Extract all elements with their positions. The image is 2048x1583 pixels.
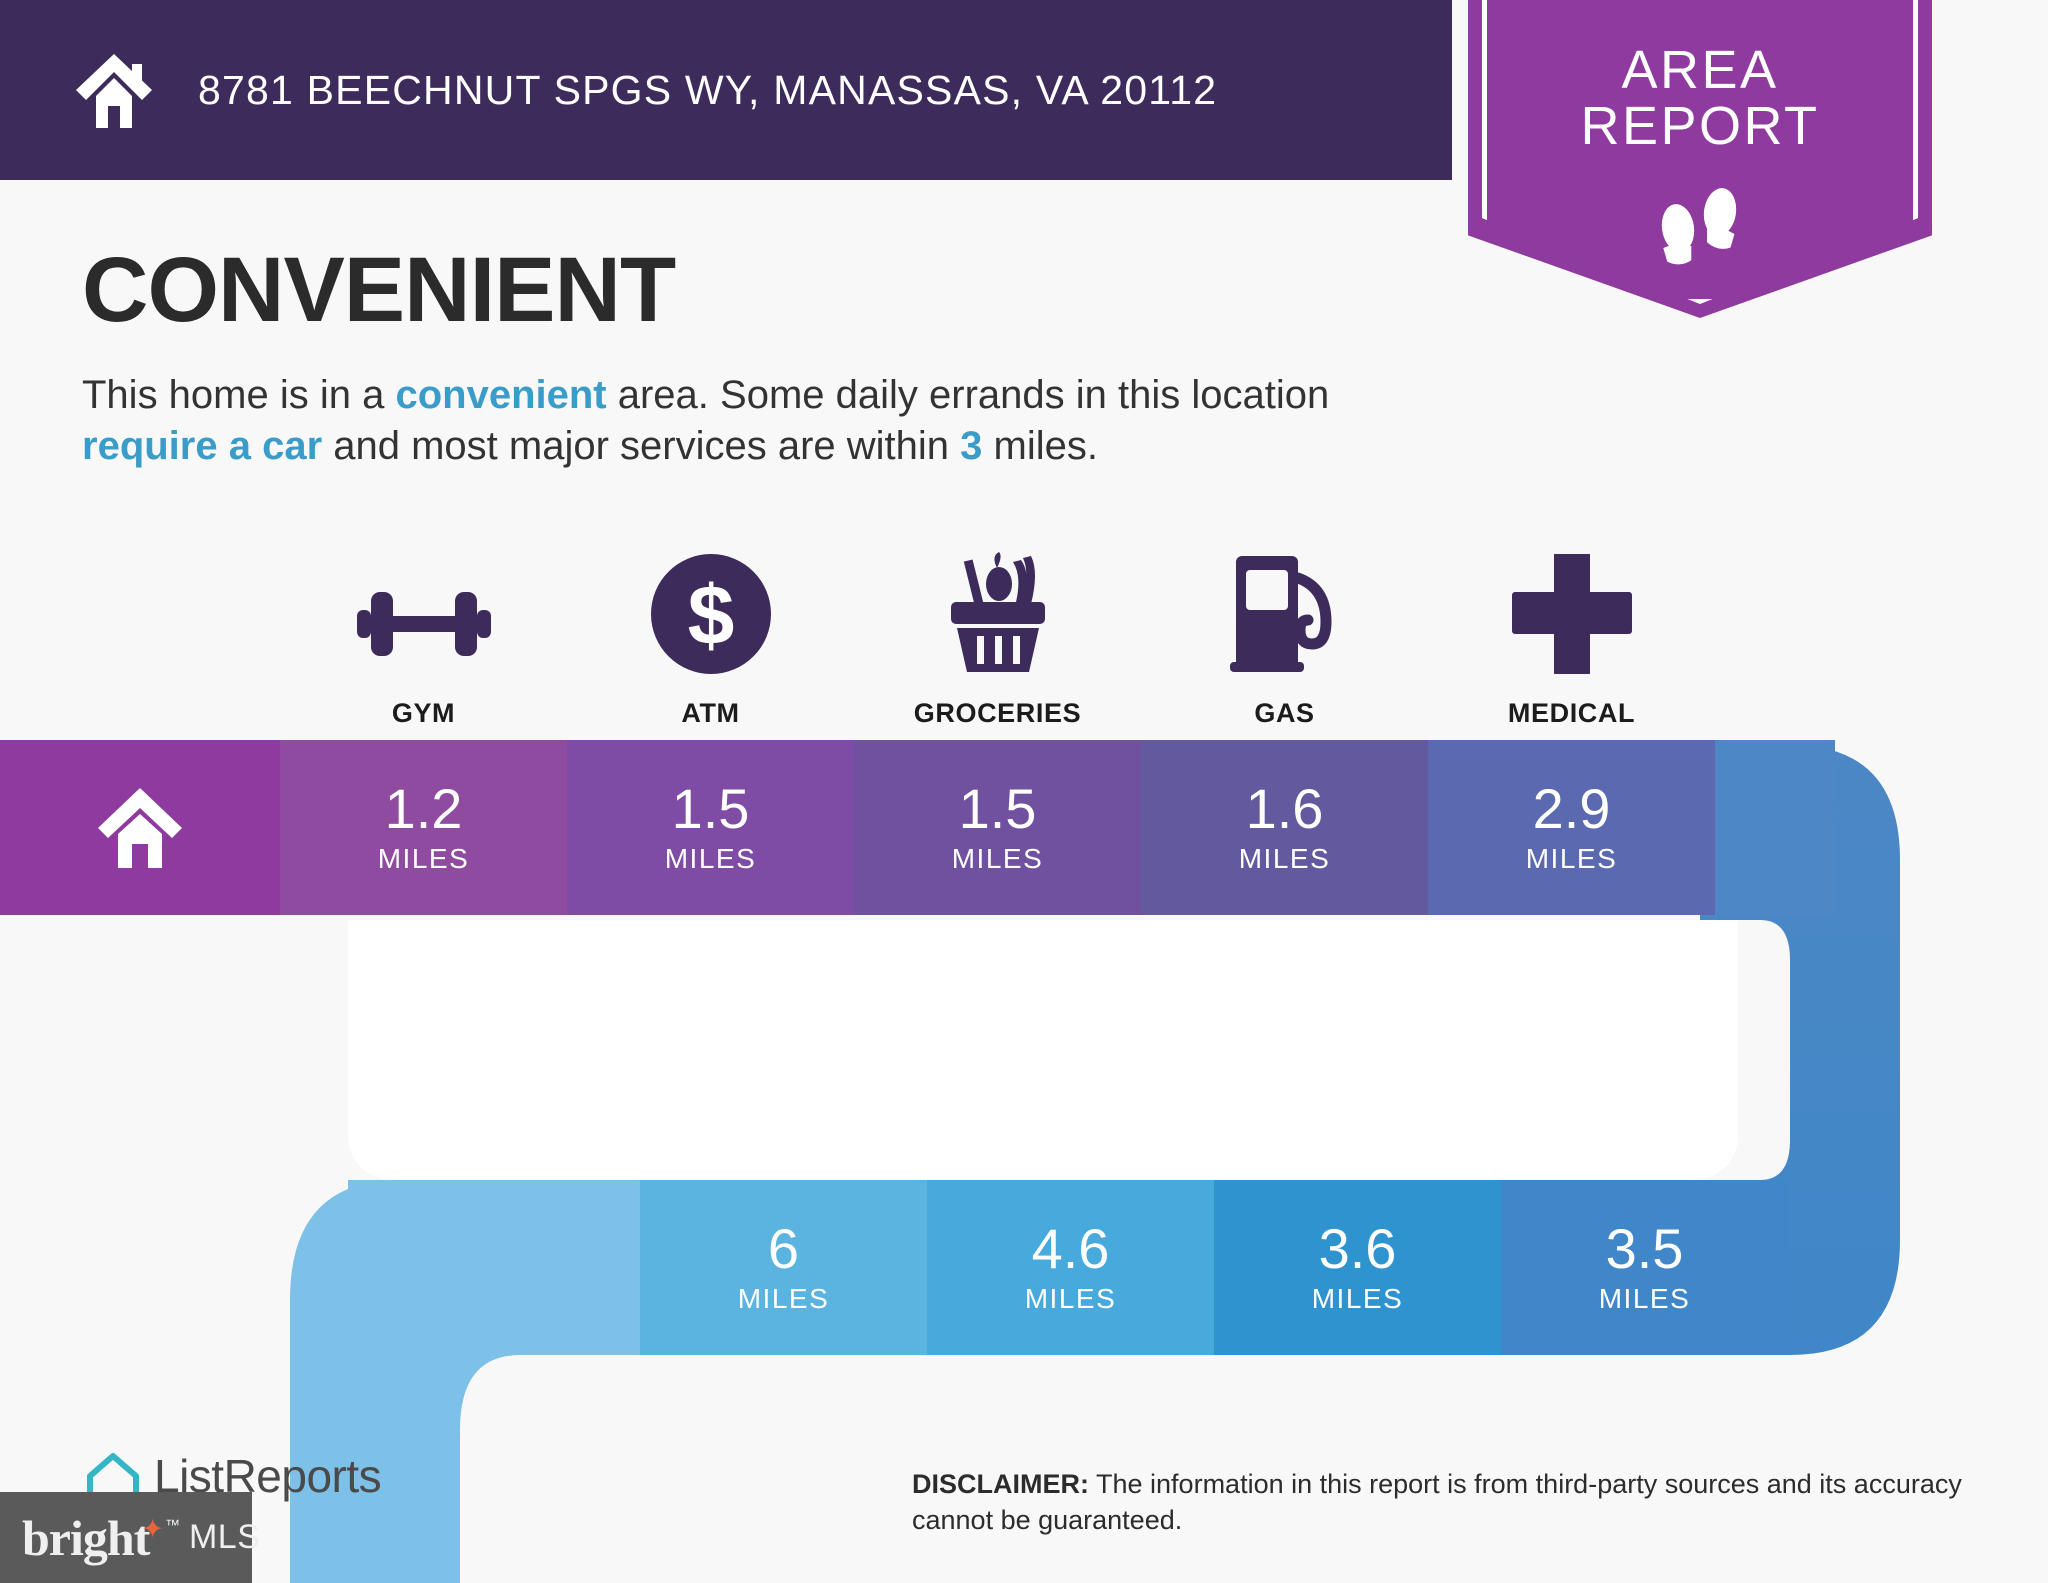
brightmls-wordmark: bright [22,1509,149,1567]
amenity-label: GROCERIES [914,698,1081,729]
brightmls-logo: bright ✦ ™ MLS [0,1492,252,1583]
summary-part2: area. Some daily errands in this locatio… [607,373,1330,417]
distance-unit: MILES [665,843,757,875]
distance-value: 3.5 [1606,1221,1684,1277]
amenity-medical: MEDICAL [1428,548,1715,729]
disclaimer-label: DISCLAIMER: [912,1469,1089,1499]
distance-segment-cleaners: 3.6 MILES [1214,1180,1501,1355]
distance-segment-atm: 1.5 MILES [567,740,854,915]
distance-segment-movie-theater: 6 MILES [640,1180,927,1355]
summary-part3: and most major services are within [322,424,960,468]
disclaimer: DISCLAIMER: The information in this repo… [912,1466,1972,1539]
distance-segment-lead [348,1180,640,1355]
area-report-badge: AREA REPORT [1468,0,1932,318]
distance-unit: MILES [1025,1283,1117,1315]
amenity-atm: $ ATM [567,548,854,729]
distance-segment-groceries: 1.5 MILES [854,740,1141,915]
distance-segment-coffee: 4.6 MILES [927,1180,1214,1355]
grocery-basket-icon [933,548,1063,676]
svg-text:$: $ [687,568,734,662]
distance-value: 3.6 [1319,1221,1397,1277]
medical-cross-icon [1510,548,1634,676]
amenity-gym: GYM [280,548,567,729]
home-marker-segment [0,740,280,915]
summary-text: This home is in a convenient area. Some … [82,370,1412,472]
distance-value: 1.5 [672,781,750,837]
distance-bar-row-1: 1.2 MILES 1.5 MILES 1.5 MILES 1.6 MILES … [0,740,1835,915]
summary-part1: This home is in a [82,373,395,417]
home-icon [72,48,156,132]
amenity-label: ATM [681,698,739,729]
amenity-groceries: GROCERIES [854,548,1141,729]
brightmls-star-icon: ✦ [141,1514,164,1545]
distance-segment-gas: 1.6 MILES [1141,740,1428,915]
summary-part4: miles. [982,424,1098,468]
summary-highlight-convenient: convenient [395,373,606,417]
distance-value: 1.2 [385,781,463,837]
distance-value: 6 [768,1221,799,1277]
distance-value: 1.6 [1246,781,1324,837]
distance-unit: MILES [1239,843,1331,875]
property-address: 8781 BEECHNUT SPGS WY, MANASSAS, VA 2011… [198,67,1217,114]
distance-unit: MILES [1526,843,1618,875]
distance-value: 4.6 [1032,1221,1110,1277]
summary-highlight-car: require a car [82,424,322,468]
distance-unit: MILES [1599,1283,1691,1315]
amenity-gas: GAS [1141,548,1428,729]
badge-title-line2: REPORT [1580,98,1819,154]
distance-bar-row-2: 6 MILES 4.6 MILES 3.6 MILES 3.5 MILES [348,1180,1788,1355]
dollar-circle-icon: $ [649,548,773,676]
distance-value: 1.5 [959,781,1037,837]
summary-highlight-miles: 3 [960,424,982,468]
distance-unit: MILES [1312,1283,1404,1315]
header-bar: 8781 BEECHNUT SPGS WY, MANASSAS, VA 2011… [0,0,1452,180]
gas-pump-icon [1224,548,1346,676]
icon-row-2-card [348,920,1738,1180]
page-title: CONVENIENT [82,238,675,343]
amenity-label: MEDICAL [1508,698,1635,729]
footprints-icon [1652,180,1748,277]
distance-segment-filler [1715,740,1835,915]
distance-unit: MILES [738,1283,830,1315]
amenity-icon-row-top: GYM $ ATM GROCERIES [280,548,1715,729]
distance-value: 2.9 [1533,781,1611,837]
distance-segment-gym: 1.2 MILES [280,740,567,915]
distance-unit: MILES [378,843,470,875]
distance-segment-pharmacy: 3.5 MILES [1501,1180,1788,1355]
amenity-label: GYM [392,698,455,729]
home-icon [92,780,188,876]
brightmls-mls-text: MLS [189,1518,260,1557]
distance-unit: MILES [952,843,1044,875]
amenity-label: GAS [1254,698,1314,729]
dumbbell-icon [349,548,499,676]
trademark-symbol: ™ [165,1517,180,1534]
distance-segment-medical: 2.9 MILES [1428,740,1715,915]
badge-title-line1: AREA [1621,42,1778,98]
